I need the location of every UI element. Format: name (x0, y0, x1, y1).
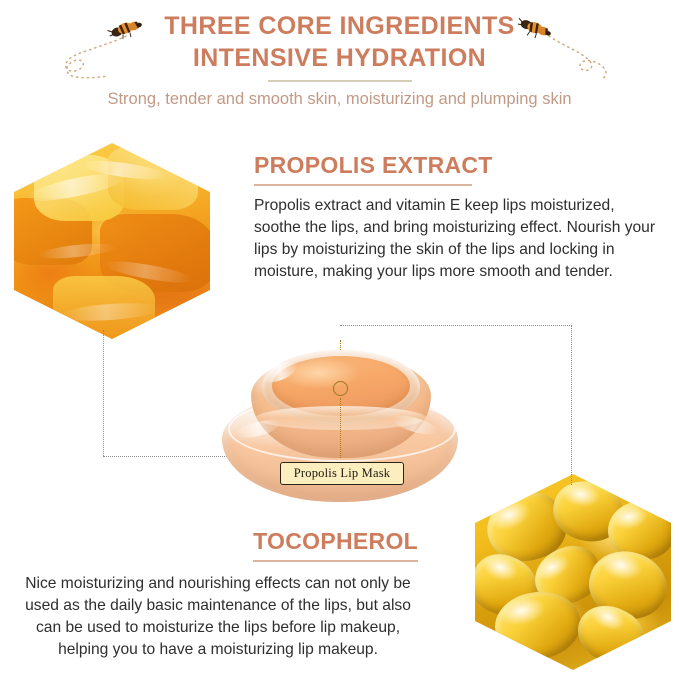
title-divider (268, 80, 412, 82)
section-tocopherol-rule (253, 560, 418, 562)
connector-line-tocopherol-vertical (571, 325, 572, 485)
section-tocopherol-body: Nice moisturizing and nourishing effects… (18, 573, 418, 662)
section-tocopherol-heading: TOCOPHEROL (253, 528, 418, 555)
vitamin-e-capsules-hexagon-image (475, 474, 671, 670)
section-propolis-rule (254, 184, 472, 186)
section-propolis-heading: PROPOLIS EXTRACT (254, 152, 666, 179)
connector-line-propolis-vertical (103, 330, 104, 456)
bee-trail-icon (545, 34, 615, 82)
section-propolis-body: Propolis extract and vitamin E keep lips… (254, 195, 660, 284)
product-label-text: Propolis Lip Mask (294, 466, 390, 481)
page-subtitle: Strong, tender and smooth skin, moisturi… (0, 90, 679, 109)
connector-line-tocopherol-horizontal (340, 325, 572, 326)
callout-marker-circle (333, 381, 348, 396)
product-label: Propolis Lip Mask (280, 462, 404, 485)
infographic-page: THREE CORE INGREDIENTS INTENSIVE HYDRATI… (0, 0, 679, 679)
section-tocopherol: TOCOPHEROL Nice moisturizing and nourish… (18, 528, 418, 661)
section-tocopherol-heading-wrap: TOCOPHEROL (253, 528, 418, 562)
honeycomb-hexagon-image (14, 143, 210, 339)
header: THREE CORE INGREDIENTS INTENSIVE HYDRATI… (0, 0, 679, 128)
callout-line-bottom (340, 398, 341, 458)
section-propolis: PROPOLIS EXTRACT Propolis extract and vi… (254, 152, 666, 283)
